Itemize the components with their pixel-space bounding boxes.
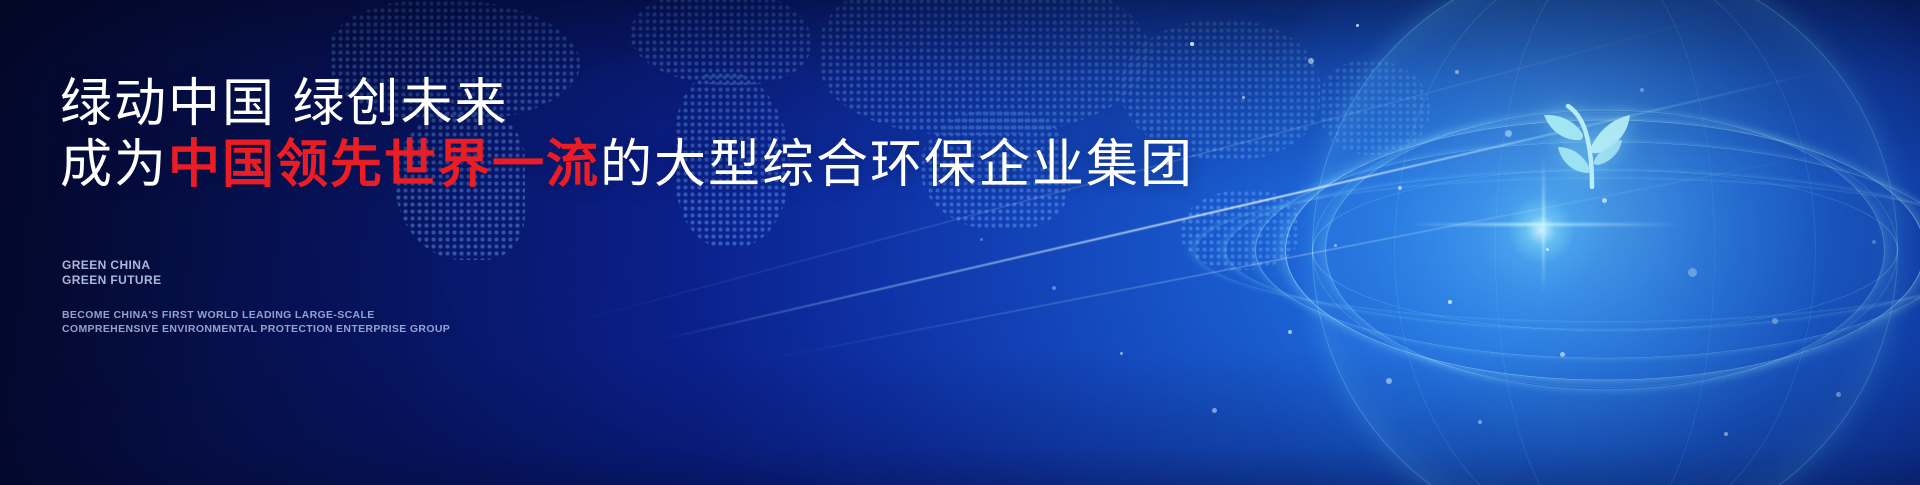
headline: 绿动中国 绿创未来 成为中国领先世界一流的大型综合环保企业集团 bbox=[60, 74, 1194, 197]
description-line-1: BECOME CHINA'S FIRST WORLD LEADING LARGE… bbox=[62, 309, 450, 323]
headline-line-2-highlight: 中国领先世界一流 bbox=[168, 136, 600, 194]
description-line-2: COMPREHENSIVE ENVIRONMENTAL PROTECTION E… bbox=[62, 323, 450, 337]
headline-line-1: 绿动中国 绿创未来 bbox=[60, 74, 1194, 135]
banner-content: 绿动中国 绿创未来 成为中国领先世界一流的大型综合环保企业集团 GREEN CH… bbox=[0, 0, 1920, 485]
subtitle-english: GREEN CHINA GREEN FUTURE bbox=[62, 258, 161, 288]
subtitle-line-1: GREEN CHINA bbox=[62, 258, 161, 273]
headline-line-2-suffix: 的大型综合环保企业集团 bbox=[600, 136, 1194, 194]
headline-line-2: 成为中国领先世界一流的大型综合环保企业集团 bbox=[60, 135, 1194, 196]
subtitle-line-2: GREEN FUTURE bbox=[62, 273, 161, 288]
description-english: BECOME CHINA'S FIRST WORLD LEADING LARGE… bbox=[62, 309, 450, 336]
hero-banner: 绿动中国 绿创未来 成为中国领先世界一流的大型综合环保企业集团 GREEN CH… bbox=[0, 0, 1920, 485]
headline-line-2-prefix: 成为 bbox=[60, 136, 168, 194]
